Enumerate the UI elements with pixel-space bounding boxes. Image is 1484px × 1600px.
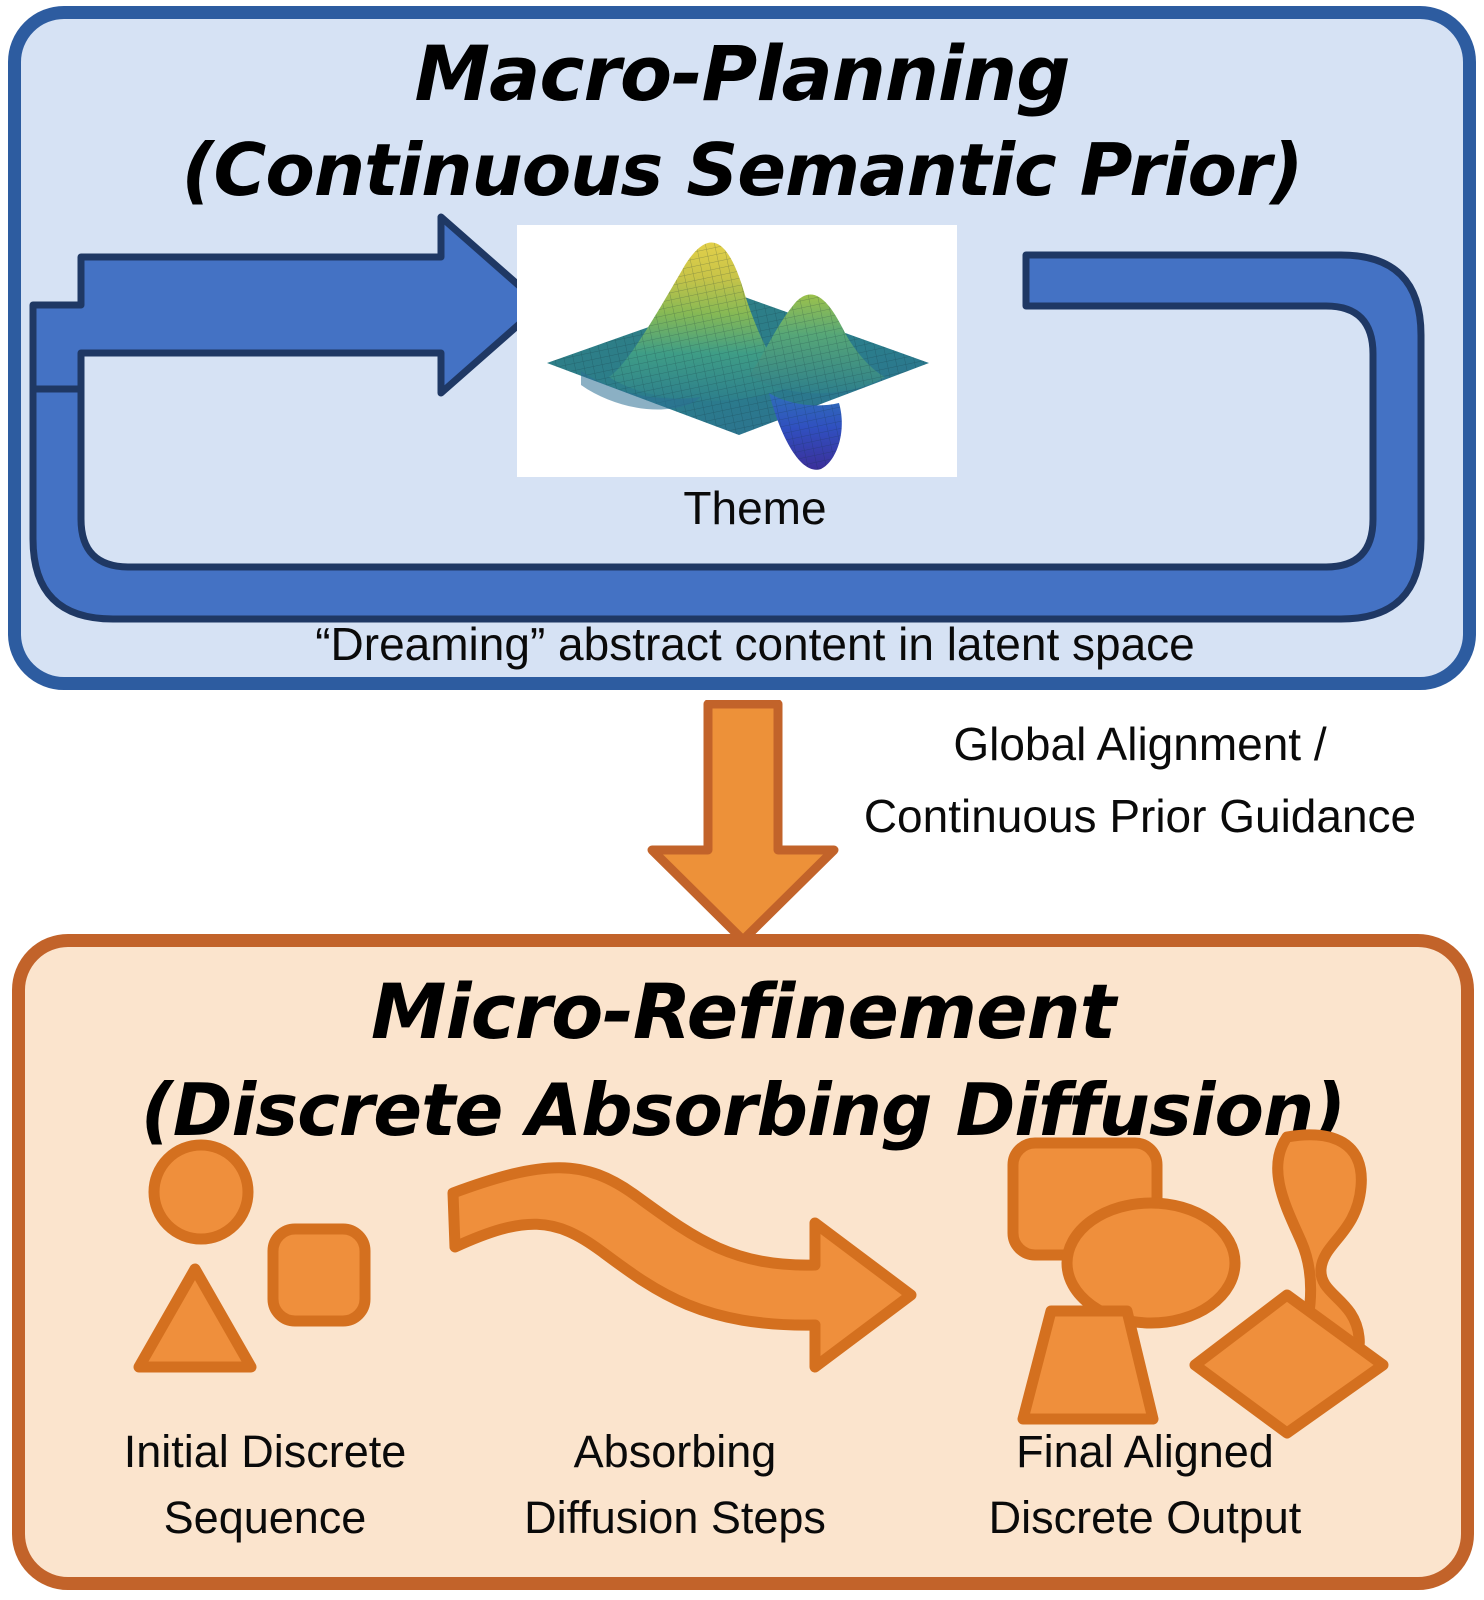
- caption-initial-line1: Initial Discrete: [55, 1419, 475, 1485]
- caption-initial-sequence: Initial Discrete Sequence: [55, 1419, 475, 1551]
- shape-triangle: [139, 1269, 251, 1367]
- bridge-label-line1: Global Alignment /: [840, 708, 1440, 780]
- caption-diffusion-steps: Absorbing Diffusion Steps: [465, 1419, 885, 1551]
- caption-final-line1: Final Aligned: [905, 1419, 1385, 1485]
- shape-blob: [1278, 1135, 1362, 1378]
- shape-diamond: [1195, 1295, 1383, 1433]
- initial-sequence-shapes: [139, 1145, 365, 1367]
- shape-ellipse: [1067, 1203, 1235, 1323]
- theme-surface-plot: [517, 225, 957, 477]
- downward-transfer-arrow: [620, 700, 860, 945]
- caption-steps-line2: Diffusion Steps: [465, 1485, 885, 1551]
- final-output-shapes: [1013, 1135, 1383, 1433]
- micro-refinement-panel: Micro-Refinement (Discrete Absorbing Dif…: [12, 934, 1474, 1590]
- caption-steps-line1: Absorbing: [465, 1419, 885, 1485]
- theme-label: Theme: [21, 481, 1484, 535]
- caption-final-line2: Discrete Output: [905, 1485, 1385, 1551]
- shape-circle: [154, 1145, 248, 1239]
- shape-rounded-square: [273, 1229, 365, 1321]
- caption-initial-line2: Sequence: [55, 1485, 475, 1551]
- caption-final-output: Final Aligned Discrete Output: [905, 1419, 1385, 1551]
- shape-trapezoid: [1023, 1311, 1153, 1419]
- macro-planning-panel: Macro-Planning (Continuous Semantic Prio…: [8, 6, 1476, 690]
- wavy-diffusion-arrow: [453, 1168, 911, 1367]
- macro-planning-caption: “Dreaming” abstract content in latent sp…: [21, 617, 1484, 671]
- micro-refinement-subtitle: (Discrete Absorbing Diffusion): [25, 1067, 1461, 1153]
- shape-rounded-rectangle: [1013, 1143, 1157, 1255]
- macro-planning-title: Macro-Planning: [21, 31, 1463, 117]
- macro-planning-subtitle: (Continuous Semantic Prior): [21, 127, 1463, 213]
- micro-refinement-title: Micro-Refinement: [25, 969, 1461, 1055]
- bridge-label-line2: Continuous Prior Guidance: [840, 780, 1440, 852]
- bridge-label: Global Alignment / Continuous Prior Guid…: [840, 708, 1440, 852]
- diagram-canvas: Macro-Planning (Continuous Semantic Prio…: [0, 0, 1484, 1600]
